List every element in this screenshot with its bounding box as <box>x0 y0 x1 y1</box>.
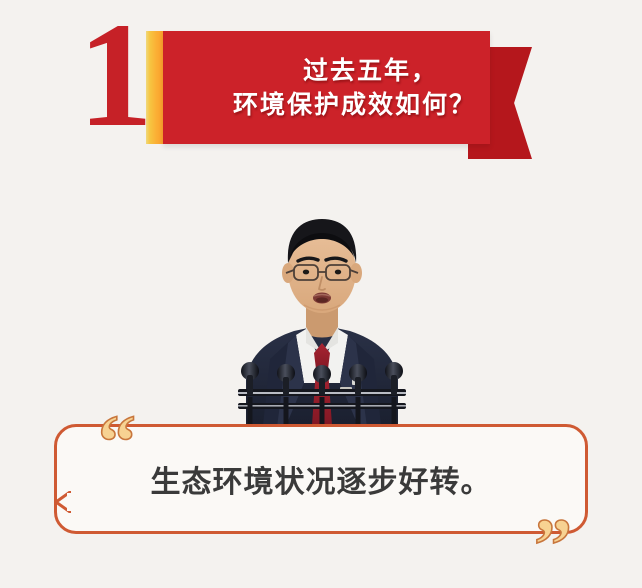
accent-bar <box>146 31 163 144</box>
speaker-photo-image <box>236 193 408 435</box>
quote-callout: “ 生态环境状况逐步好转。 ” <box>48 418 594 540</box>
section-number: 1 <box>78 14 148 144</box>
banner-title-line-2: 环境保护成效如何？ <box>233 88 476 122</box>
quote-close-mark: ” <box>534 508 572 584</box>
quote-text: 生态环境状况逐步好转。 <box>54 424 588 534</box>
speaker-photo <box>236 193 408 435</box>
banner-title-line-1: 过去五年， <box>303 54 476 88</box>
poster-canvas: 1 过去五年， 环境保护成效如何？ <box>0 0 642 587</box>
header-banner: 1 过去五年， 环境保护成效如何？ <box>0 0 642 180</box>
banner-title: 过去五年， 环境保护成效如何？ <box>163 31 490 144</box>
